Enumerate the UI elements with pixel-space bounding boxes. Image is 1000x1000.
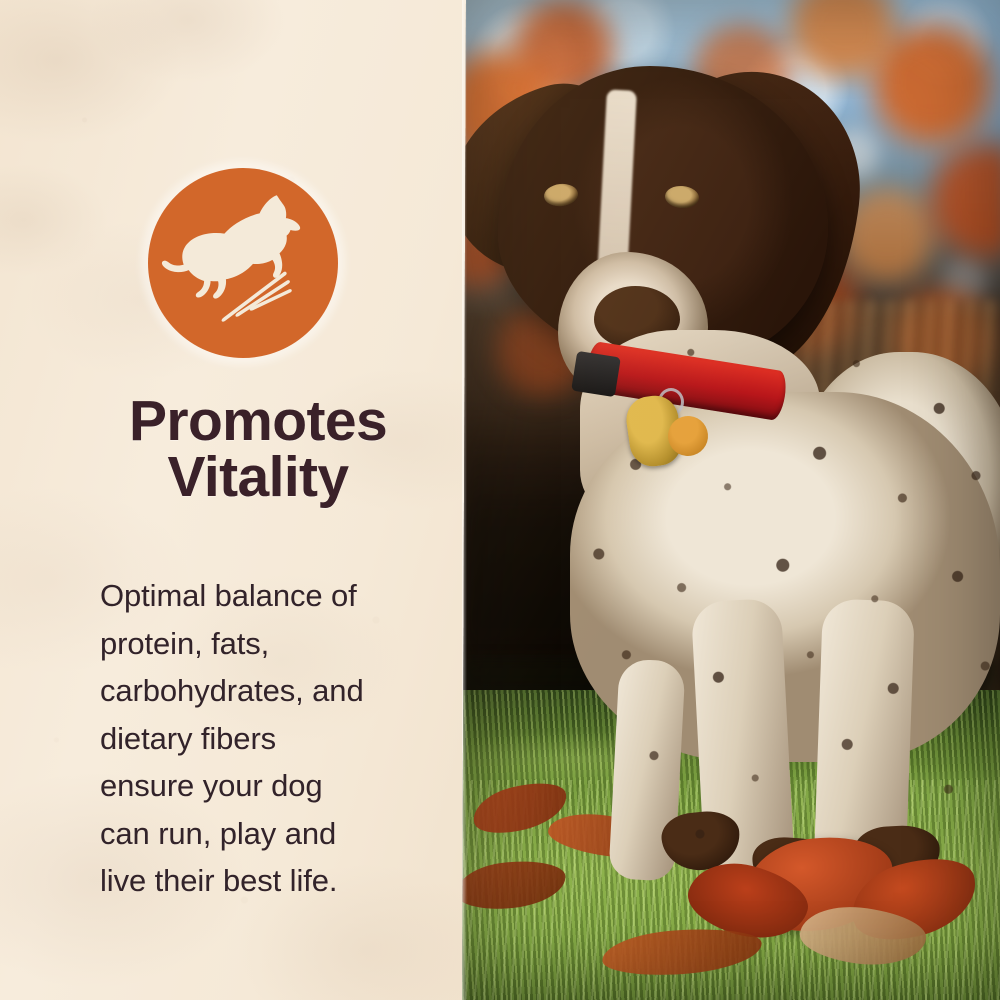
body-line: ensure your dog (100, 762, 420, 810)
product-feature-poster: Promotes Vitality Optimal balance of pro… (0, 0, 1000, 1000)
page-title: Promotes Vitality (88, 393, 428, 506)
body-line: Optimal balance of (100, 572, 420, 620)
headline-line-2: Vitality (88, 449, 428, 505)
body-line: protein, fats, (100, 620, 420, 668)
headline-line-1: Promotes (88, 393, 428, 449)
dog-photograph (462, 0, 1000, 1000)
body-line: live their best life. (100, 857, 420, 905)
body-line: can run, play and (100, 810, 420, 858)
vitality-badge (148, 168, 338, 358)
body-line: carbohydrates, and (100, 667, 420, 715)
leaping-dog-icon (148, 168, 338, 358)
body-description: Optimal balance of protein, fats, carboh… (100, 572, 420, 905)
collar-buckle (571, 351, 621, 397)
body-line: dietary fibers (100, 715, 420, 763)
